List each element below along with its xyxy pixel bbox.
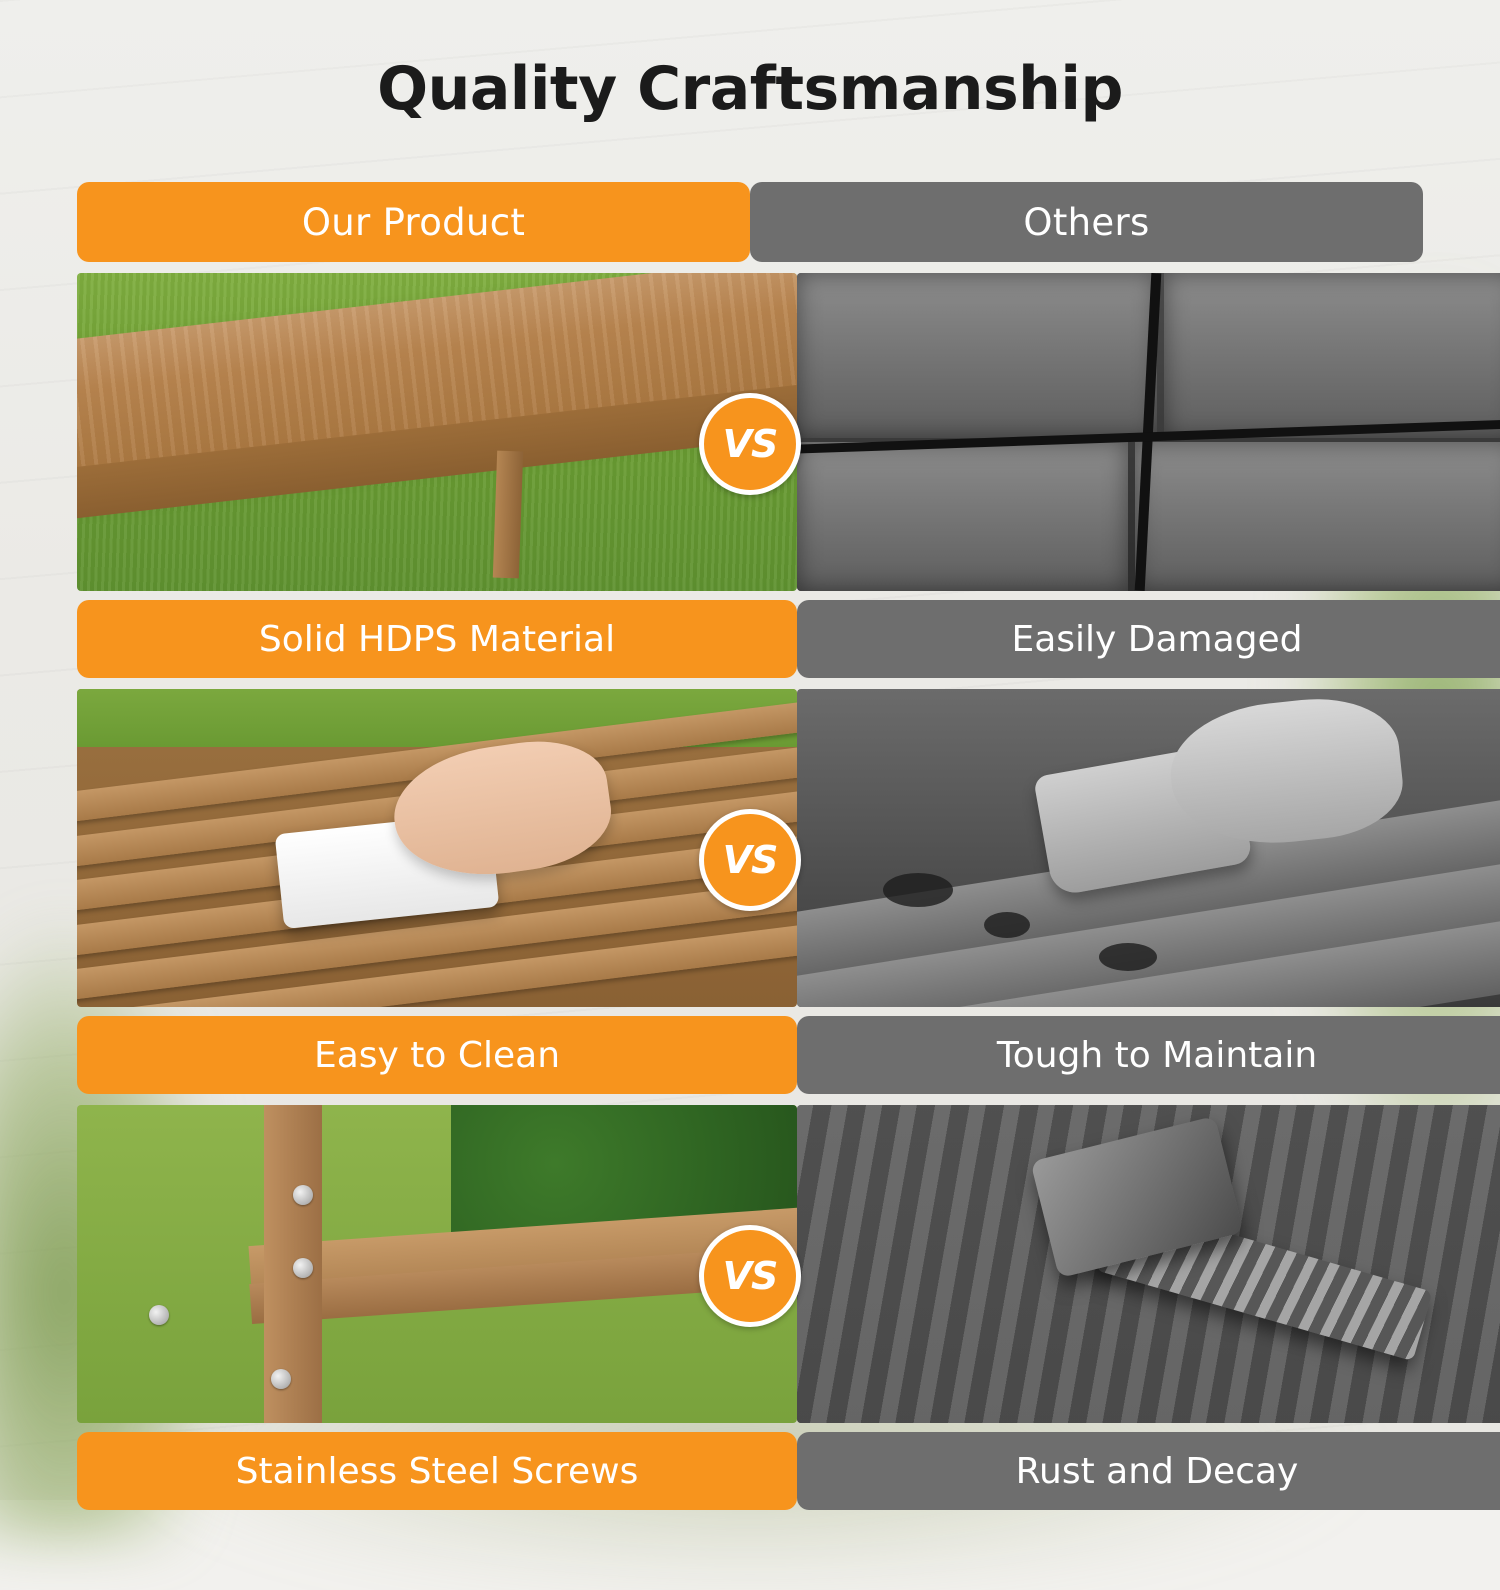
our-product-caption-1: Solid HDPS Material bbox=[77, 600, 797, 678]
others-photo-2 bbox=[797, 689, 1500, 1007]
header-others: Others bbox=[750, 182, 1423, 262]
others-photo-3 bbox=[797, 1105, 1500, 1423]
page-title: Quality Craftsmanship bbox=[0, 54, 1500, 124]
comparison-row-1: Solid HDPS Material VS Easily Damaged bbox=[77, 273, 1423, 678]
vs-badge-3: VS bbox=[699, 1225, 801, 1327]
vs-badge-2: VS bbox=[699, 809, 801, 911]
our-product-caption-2: Easy to Clean bbox=[77, 1016, 797, 1094]
stain-spot bbox=[984, 912, 1030, 938]
others-cell-1: Easily Damaged bbox=[797, 273, 1500, 678]
comparison-row-3: Stainless Steel Screws VS Rust and Decay bbox=[77, 1105, 1423, 1510]
others-photo-1 bbox=[797, 273, 1500, 591]
others-caption-2: Tough to Maintain bbox=[797, 1016, 1500, 1094]
our-product-caption-3: Stainless Steel Screws bbox=[77, 1432, 797, 1510]
stainless-screw bbox=[293, 1185, 313, 1205]
others-cell-3: Rust and Decay bbox=[797, 1105, 1500, 1510]
wood-board bbox=[1164, 273, 1500, 438]
our-product-cell-3: Stainless Steel Screws bbox=[77, 1105, 797, 1510]
comparison-grid: Our Product Others Solid HDPS Material V… bbox=[77, 182, 1423, 1510]
stainless-screw bbox=[293, 1258, 313, 1278]
wood-board bbox=[797, 442, 1128, 591]
others-caption-1: Easily Damaged bbox=[797, 600, 1500, 678]
others-caption-3: Rust and Decay bbox=[797, 1432, 1500, 1510]
our-product-photo-3 bbox=[77, 1105, 797, 1423]
our-product-cell-2: Easy to Clean bbox=[77, 689, 797, 1094]
wood-board bbox=[1135, 442, 1500, 591]
table-leg-left bbox=[135, 1105, 201, 1423]
header-our-product: Our Product bbox=[77, 182, 750, 262]
vs-badge-1: VS bbox=[699, 393, 801, 495]
comparison-row-2: Easy to Clean VS Tough to Maintain bbox=[77, 689, 1423, 1094]
bench-leg bbox=[492, 451, 522, 579]
our-product-cell-1: Solid HDPS Material bbox=[77, 273, 797, 678]
our-product-photo-1 bbox=[77, 273, 797, 591]
wood-board bbox=[797, 273, 1157, 438]
column-headers: Our Product Others bbox=[77, 182, 1423, 262]
others-cell-2: Tough to Maintain bbox=[797, 689, 1500, 1094]
our-product-photo-2 bbox=[77, 689, 797, 1007]
